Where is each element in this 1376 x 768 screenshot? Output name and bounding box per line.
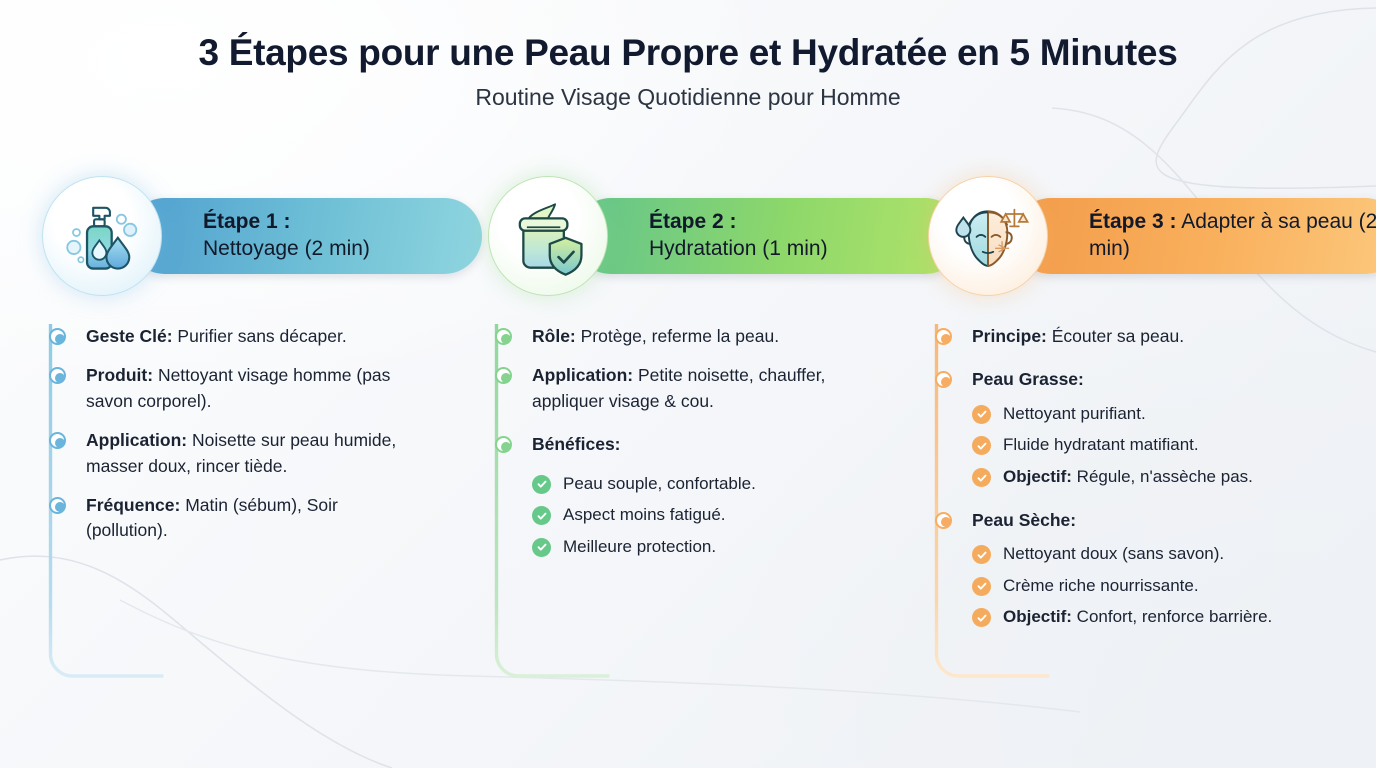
list-item: Application: Petite noisette, chauffer, … (532, 363, 872, 414)
list-item-label: Rôle: (532, 326, 576, 346)
step-3-label: Étape 3 : Adapter à sa peau (2 min) (1089, 209, 1376, 263)
page-subtitle: Routine Visage Quotidienne pour Homme (0, 84, 1376, 111)
sub-list-item-label: Objectif: (1003, 467, 1072, 486)
list-item-text: Peau Sèche: (972, 508, 1312, 533)
list-item-text: Produit: Nettoyant visage homme (pas sav… (86, 363, 416, 414)
list-item: Peau Grasse: Nettoyant purifiant. Fluide… (972, 367, 1312, 489)
check-circle-icon (972, 608, 991, 627)
check-circle-icon (972, 436, 991, 455)
step-1-label: Étape 1 : Nettoyage (2 min) (203, 209, 370, 263)
sub-list-item-value: Nettoyant doux (sans savon). (1003, 544, 1224, 563)
step-1-list: Geste Clé: Purifier sans décaper. Produi… (42, 324, 488, 558)
list-item: Fréquence: Matin (sébum), Soir (pollutio… (86, 493, 416, 544)
list-item-text: Bénéfices: (532, 432, 872, 457)
sub-list-item-value: Confort, renforce barrière. (1072, 607, 1272, 626)
step-1-pill[interactable]: Étape 1 : Nettoyage (2 min) (127, 198, 482, 274)
list-item-value: Écouter sa peau. (1047, 326, 1184, 346)
step-2-icon-circle (488, 176, 608, 296)
sub-list-item-label: Objectif: (1003, 607, 1072, 626)
step-2-label-bold: Étape 2 : (649, 210, 737, 233)
bullet-marker-icon (935, 371, 952, 388)
list-item-label: Principe: (972, 326, 1047, 346)
check-circle-icon (972, 468, 991, 487)
bullet-marker-icon (495, 367, 512, 384)
sub-list-item: Objectif: Confort, renforce barrière. (972, 605, 1312, 630)
step-3-items: Principe: Écouter sa peau. Peau Grasse: … (972, 324, 1312, 630)
sub-list-item: Nettoyant doux (sans savon). (972, 542, 1312, 567)
step-3-icon-circle (928, 176, 1048, 296)
check-circle-icon (532, 475, 551, 494)
step-2-list: Rôle: Protège, referme la peau. Applicat… (488, 324, 934, 573)
sub-list-item-value: Meilleure protection. (563, 537, 716, 556)
check-circle-icon (532, 506, 551, 525)
check-circle-icon (972, 577, 991, 596)
list-item-text: Application: Noisette sur peau humide, m… (86, 428, 416, 479)
sub-list-item: Nettoyant purifiant. (972, 402, 1312, 427)
bullet-marker-icon (495, 328, 512, 345)
step-column-1: Étape 1 : Nettoyage (2 min) (42, 176, 488, 736)
list-item: Geste Clé: Purifier sans décaper. (86, 324, 416, 349)
sub-list: Peau souple, confortable. Aspect moins f… (532, 472, 872, 560)
steps-container: Étape 1 : Nettoyage (2 min) (0, 176, 1376, 736)
list-item: Principe: Écouter sa peau. (972, 324, 1312, 349)
bullet-marker-icon (495, 436, 512, 453)
list-item: Rôle: Protège, referme la peau. (532, 324, 872, 349)
bullet-marker-icon (49, 497, 66, 514)
list-item: Bénéfices: Peau souple, confortable. Asp… (532, 432, 872, 559)
sub-list-item: Meilleure protection. (532, 535, 872, 560)
step-column-3: Étape 3 : Adapter à sa peau (2 min) (928, 176, 1374, 736)
list-item-text: Rôle: Protège, referme la peau. (532, 324, 872, 349)
step-2-items: Rôle: Protège, referme la peau. Applicat… (532, 324, 872, 559)
page-title: 3 Étapes pour une Peau Propre et Hydraté… (0, 32, 1376, 75)
header: 3 Étapes pour une Peau Propre et Hydraté… (0, 32, 1376, 111)
bullet-marker-icon (49, 328, 66, 345)
list-item-text: Fréquence: Matin (sébum), Soir (pollutio… (86, 493, 416, 544)
check-circle-icon (972, 545, 991, 564)
step-2-header: Étape 2 : Hydratation (1 min) (488, 176, 934, 296)
cream-jar-shield-icon (504, 192, 592, 280)
step-3-header: Étape 3 : Adapter à sa peau (2 min) (928, 176, 1374, 296)
step-1-items: Geste Clé: Purifier sans décaper. Produi… (86, 324, 416, 544)
list-item-label: Produit: (86, 365, 153, 385)
list-item-value: Protège, referme la peau. (576, 326, 779, 346)
step-1-icon-circle (42, 176, 162, 296)
sub-list: Nettoyant purifiant. Fluide hydratant ma… (972, 402, 1312, 490)
step-3-list: Principe: Écouter sa peau. Peau Grasse: … (928, 324, 1374, 644)
step-2-pill[interactable]: Étape 2 : Hydratation (1 min) (573, 198, 963, 274)
sub-list-item: Crème riche nourrissante. (972, 574, 1312, 599)
list-item: Application: Noisette sur peau humide, m… (86, 428, 416, 479)
list-item-value: Purifier sans décaper. (173, 326, 347, 346)
step-column-2: Étape 2 : Hydratation (1 min) (488, 176, 934, 736)
list-item-label: Peau Grasse: (972, 369, 1084, 389)
check-circle-icon (532, 538, 551, 557)
sub-list-item: Objectif: Régule, n'assèche pas. (972, 465, 1312, 490)
step-2-label-rest: Hydratation (1 min) (649, 236, 828, 263)
list-item-label: Bénéfices: (532, 434, 621, 454)
bullet-marker-icon (935, 328, 952, 345)
step-1-label-rest: Nettoyage (2 min) (203, 236, 370, 263)
list-item-label: Peau Sèche: (972, 510, 1076, 530)
list-item-text: Application: Petite noisette, chauffer, … (532, 363, 872, 414)
list-item: Produit: Nettoyant visage homme (pas sav… (86, 363, 416, 414)
sub-list-item-value: Aspect moins fatigué. (563, 505, 726, 524)
check-circle-icon (972, 405, 991, 424)
step-3-pill[interactable]: Étape 3 : Adapter à sa peau (2 min) (1013, 198, 1376, 274)
soap-dispenser-icon (58, 192, 146, 280)
split-face-balance-icon (944, 192, 1032, 280)
bullet-marker-icon (49, 367, 66, 384)
step-1-label-bold: Étape 1 : (203, 210, 291, 233)
list-item-text: Geste Clé: Purifier sans décaper. (86, 324, 416, 349)
sub-list-item: Peau souple, confortable. (532, 472, 872, 497)
step-1-header: Étape 1 : Nettoyage (2 min) (42, 176, 488, 296)
list-item: Peau Sèche: Nettoyant doux (sans savon).… (972, 508, 1312, 630)
step-2-label: Étape 2 : Hydratation (1 min) (649, 209, 828, 263)
sub-list-item-value: Crème riche nourrissante. (1003, 576, 1199, 595)
list-item-label: Fréquence: (86, 495, 180, 515)
sub-list-item-value: Peau souple, confortable. (563, 474, 756, 493)
step-3-label-bold: Étape 3 : (1089, 210, 1177, 233)
sub-list-item-value: Régule, n'assèche pas. (1072, 467, 1253, 486)
sub-list: Nettoyant doux (sans savon). Crème riche… (972, 542, 1312, 630)
list-item-text: Principe: Écouter sa peau. (972, 324, 1312, 349)
sub-list-item-value: Nettoyant purifiant. (1003, 404, 1146, 423)
list-item-label: Geste Clé: (86, 326, 173, 346)
bullet-marker-icon (49, 432, 66, 449)
list-item-label: Application: (86, 430, 187, 450)
sub-list-item: Fluide hydratant matifiant. (972, 433, 1312, 458)
sub-list-item: Aspect moins fatigué. (532, 503, 872, 528)
sub-list-item-value: Fluide hydratant matifiant. (1003, 435, 1199, 454)
list-item-text: Peau Grasse: (972, 367, 1312, 392)
bullet-marker-icon (935, 512, 952, 529)
list-item-label: Application: (532, 365, 633, 385)
